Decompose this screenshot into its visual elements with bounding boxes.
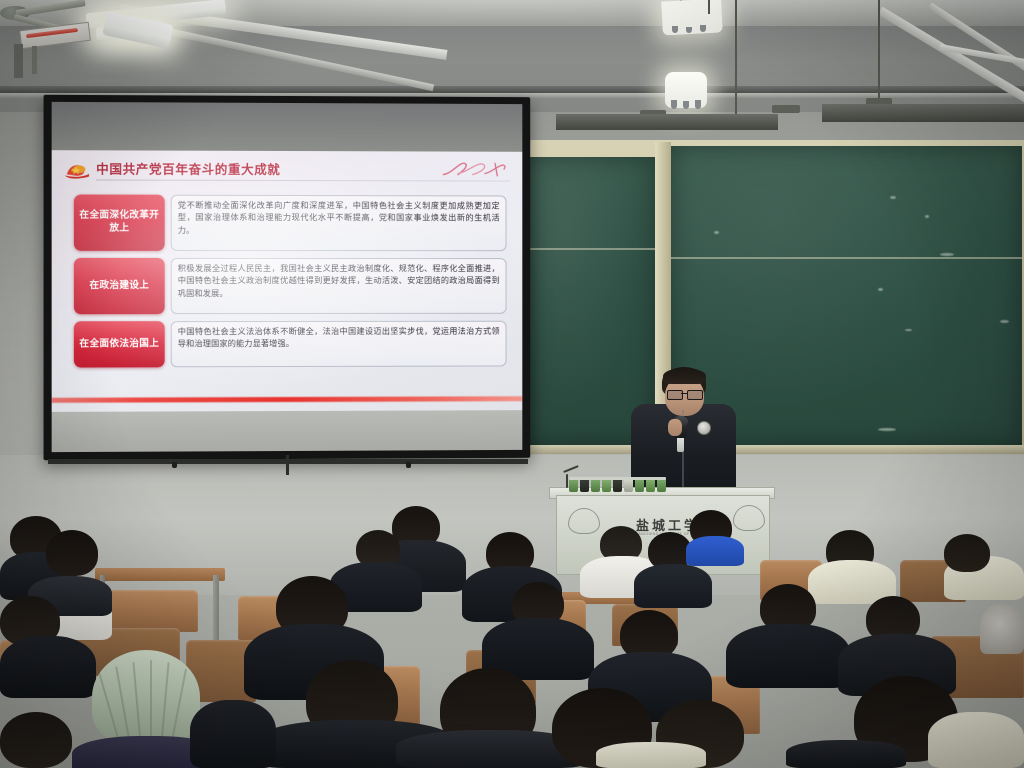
presentation-slide: 中国共产党百年奋斗的重大成就 在全面深化改革开放上 党不断推动全面深化改革向广度… (52, 150, 523, 412)
audience-member-beanie (92, 650, 200, 744)
pendant-lamp-notch (683, 101, 689, 109)
beanie-rib (150, 660, 152, 744)
pendant-lamp-notch (671, 100, 677, 109)
audience-member-head (944, 534, 990, 572)
water-bottle (580, 479, 589, 492)
slide-bottom-gray (52, 410, 523, 452)
slide-row: 在全面依法治国上 中国特色社会主义法治体系不断健全，法治中国建设迈出坚实步伐，党… (74, 321, 507, 368)
pendant-lamp-mount (772, 105, 800, 113)
heater-bracket (14, 44, 23, 78)
audience-member-head (46, 530, 98, 576)
slide-footer-band (52, 394, 523, 412)
projection-screen-surface: 中国共产党百年奋斗的重大成就 在全面深化改革开放上 党不断推动全面深化改革向广度… (52, 102, 523, 452)
slide-row: 在政治建设上 积极发展全过程人民民主，我国社会主义民主政治制度化、规范化、程序化… (74, 258, 507, 314)
screen-mount-foot (406, 462, 411, 468)
chalk-mark (890, 196, 896, 199)
bottle-caps (569, 477, 666, 480)
chalk-mark (878, 428, 896, 431)
slide-row-label: 在全面依法治国上 (74, 321, 165, 367)
calligraphy-flourish-icon (441, 159, 508, 181)
pendant-lamp-notch (672, 26, 678, 33)
audience-member-shoulders (190, 700, 276, 768)
podium-logo-left (568, 508, 600, 534)
screen-letterbox-top (52, 102, 523, 152)
speaker-hair-front (663, 368, 706, 384)
water-bottle (591, 479, 600, 492)
audience-member-shoulders (726, 624, 850, 688)
eyeglasses-bridge (681, 393, 687, 394)
eyeglasses (667, 390, 683, 400)
projection-screen[interactable]: 中国共产党百年奋斗的重大成就 在全面深化改革开放上 党不断推动全面深化改革向广度… (44, 95, 531, 460)
audience-member-shoulders (786, 740, 906, 768)
pendant-lamp-notch (686, 27, 692, 33)
audience-member-shoulders (0, 636, 96, 698)
pendant-lamp-notch (695, 100, 701, 109)
eyeglasses (687, 390, 703, 400)
heater-bracket (32, 46, 37, 74)
slide-row-label: 在政治建设上 (74, 258, 165, 314)
audience-member-shoulders (686, 536, 744, 566)
slide-title: 中国共产党百年奋斗的重大成就 (96, 158, 280, 178)
water-bottle (624, 479, 633, 492)
blackboard-panel-left (527, 157, 655, 445)
pendant-lamp-rod (735, 0, 737, 118)
audience-member-head (0, 712, 72, 768)
chalk-tray (527, 445, 1024, 454)
chalk-mark (940, 253, 954, 256)
chalk-mark (1000, 320, 1009, 323)
chalk-mark (925, 215, 929, 218)
chalk-mark (714, 231, 719, 234)
water-bottle (646, 479, 655, 492)
board-top-trim (556, 114, 778, 130)
lecture-seat (98, 590, 198, 632)
footer-red-band (52, 396, 523, 403)
audience-member-shoulders (596, 742, 706, 768)
screen-mount-foot (172, 462, 177, 468)
chalk-mark (878, 288, 883, 291)
audience-member-hood-fur (980, 604, 1024, 654)
chest-badge (697, 421, 711, 435)
water-bottle (613, 479, 622, 492)
pendant-lamp-rod (708, 0, 710, 14)
pendant-lamp-notch (700, 25, 706, 32)
student-desk (95, 568, 225, 581)
blackboard-panel-main (670, 146, 1022, 446)
audience-member-shoulders (928, 712, 1024, 768)
pendant-lamp (661, 0, 723, 36)
blackboard-panel-divider (527, 248, 655, 250)
slide-row-label: 在全面深化改革开放上 (74, 195, 165, 251)
water-bottle (602, 479, 611, 492)
audience-member-shoulders (634, 564, 712, 608)
board-top-trim (822, 104, 1024, 122)
speaker-hand (668, 419, 682, 436)
party-emblem-icon (64, 161, 90, 179)
ceiling-beam (0, 86, 1024, 93)
water-bottle (657, 479, 666, 492)
screen-drop-cable (286, 455, 289, 475)
slide-row-body: 积极发展全过程人民民主，我国社会主义民主政治制度化、规范化、程序化全面推进，中国… (171, 258, 507, 314)
lecture-hall-photo: 中国共产党百年奋斗的重大成就 在全面深化改革开放上 党不断推动全面深化改革向广度… (0, 0, 1024, 768)
slide-header: 中国共产党百年奋斗的重大成就 (64, 158, 511, 185)
slide-row-body: 党不断推动全面深化改革向广度和深度进军，中国特色社会主义制度更加成熟更加定型，国… (171, 195, 507, 251)
water-bottle (569, 479, 578, 492)
podium-logo-right (733, 505, 765, 531)
chalk-mark (905, 329, 912, 331)
blackboard-panel-divider (670, 257, 1022, 259)
slide-row: 在全面深化改革开放上 党不断推动全面深化改革向广度和深度进军，中国特色社会主义制… (74, 195, 507, 252)
water-bottle (635, 479, 644, 492)
pendant-lamp-rod (878, 0, 880, 100)
slide-row-body: 中国特色社会主义法治体系不断健全，法治中国建设迈出坚实步伐，党运用法治方式领导和… (171, 321, 507, 368)
